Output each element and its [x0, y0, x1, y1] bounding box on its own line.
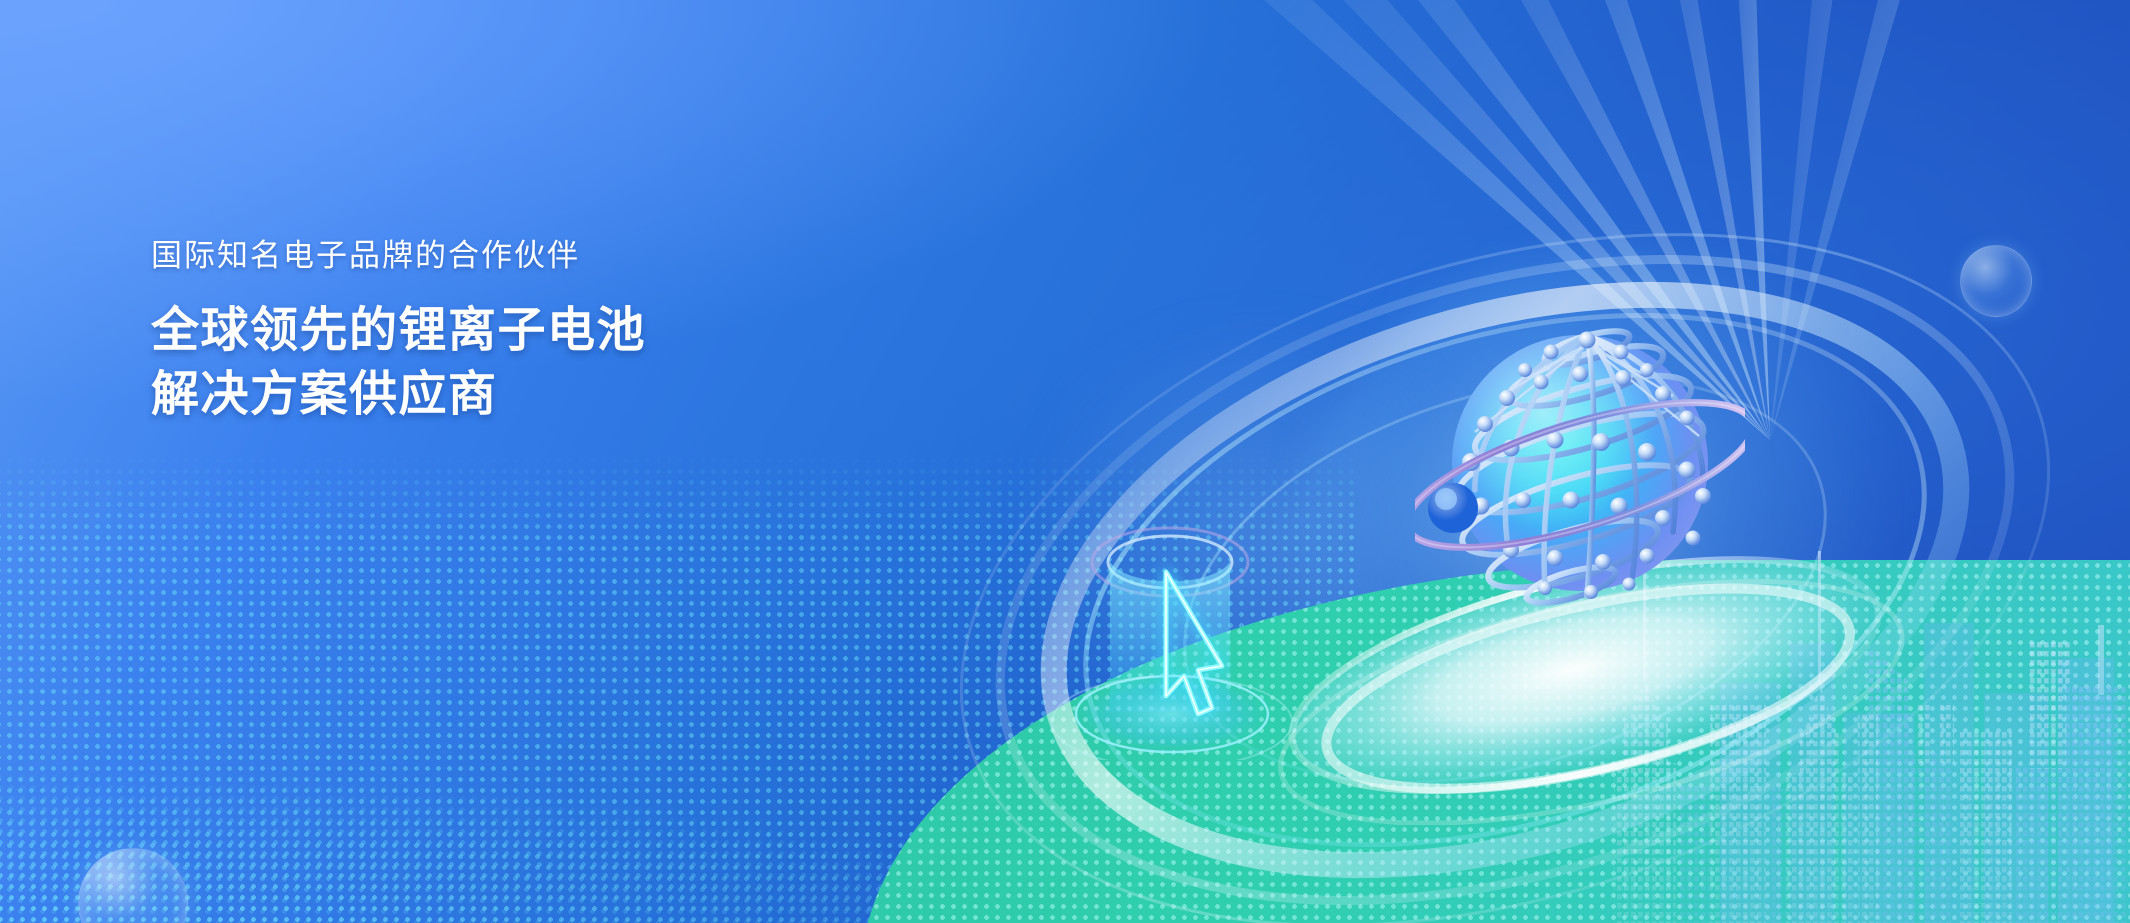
headline-line-2: 解决方案供应商 [151, 363, 911, 427]
wireframe-globe-icon [1415, 300, 1745, 630]
dot-wave-ribbon [0, 800, 960, 866]
bubble-icon [78, 848, 188, 923]
dot-wave-ribbon [0, 585, 1160, 655]
halftone-dot-wave-field [0, 430, 1440, 923]
dot-wave-ribbon [0, 448, 1300, 534]
banner-headline: 全球领先的锂离子电池 解决方案供应商 [151, 299, 911, 427]
halftone-dot-field [0, 455, 1360, 923]
banner-subtitle: 国际知名电子品牌的合作伙伴 [151, 236, 911, 277]
dot-wave-ribbon [0, 740, 1220, 812]
hero-banner: 国际知名电子品牌的合作伙伴 全球领先的锂离子电池 解决方案供应商 [0, 0, 2130, 923]
hero-copy: 国际知名电子品牌的合作伙伴 全球领先的锂离子电池 解决方案供应商 [151, 236, 911, 427]
cursor-arrow-beam-icon [1050, 500, 1340, 760]
headline-line-1: 全球领先的锂离子电池 [151, 299, 911, 363]
city-skyline-far-icon [1710, 503, 2130, 923]
bubble-icon [1960, 245, 2032, 317]
teal-dot-wave-ribbon [980, 855, 2130, 923]
orbit-node-sphere-icon [1428, 483, 1478, 533]
